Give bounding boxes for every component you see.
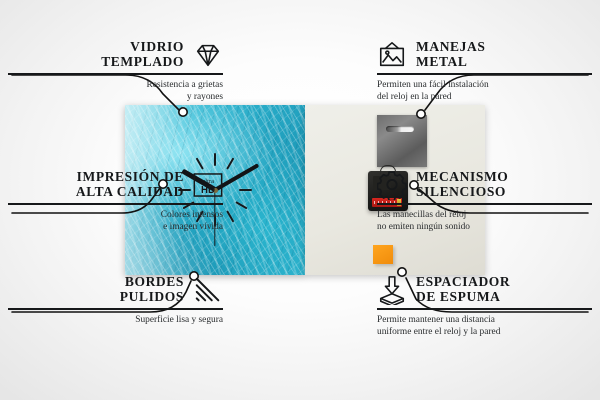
foam-spacer-arrow-icon [377, 275, 407, 305]
feature-divider [377, 308, 592, 310]
feature-manejas-metal: MANEJAS METAL Permiten una fácil instala… [377, 40, 592, 103]
feature-description: Superficie lisa y segura [8, 314, 223, 326]
gear-icon [377, 170, 407, 200]
feature-title: VIDRIO TEMPLADO [101, 40, 184, 69]
feature-impresion-alta-calidad: IMPRESIÓN DE ALTA CALIDAD ultra HD Color… [8, 170, 223, 233]
feature-header: BORDES PULIDOS [8, 275, 223, 305]
feature-mecanismo-silencioso: MECANISMO SILENCIOSO Las manecillas del … [377, 170, 592, 233]
feature-header: ESPACIADOR DE ESPUMA [377, 275, 592, 305]
feature-description: Las manecillas del reloj no emiten ningú… [377, 209, 592, 234]
hanger-slot [386, 126, 414, 132]
polished-edges-icon [193, 275, 223, 305]
diamond-icon [193, 40, 223, 70]
feature-vidrio-templado: VIDRIO TEMPLADO Resistencia a grietas y … [8, 40, 223, 103]
feature-title: MANEJAS METAL [416, 40, 485, 69]
feature-description: Permiten una fácil instalación del reloj… [377, 79, 592, 104]
infographic-stage: VIDRIO TEMPLADO Resistencia a grietas y … [0, 0, 600, 400]
feature-header: IMPRESIÓN DE ALTA CALIDAD ultra HD [8, 170, 223, 200]
picture-frame-hanger-icon [377, 40, 407, 70]
metal-hanger-plate [377, 115, 427, 167]
svg-text:HD: HD [201, 185, 215, 196]
feature-bordes-pulidos: BORDES PULIDOS Superficie lisa y segura [8, 275, 223, 326]
feature-divider [8, 73, 223, 75]
feature-divider [8, 203, 223, 205]
feature-title: ESPACIADOR DE ESPUMA [416, 275, 510, 304]
feature-divider [377, 203, 592, 205]
ultra-hd-icon: ultra HD [193, 170, 223, 200]
feature-description: Permite mantener una distancia uniforme … [377, 314, 592, 339]
feature-espaciador-espuma: ESPACIADOR DE ESPUMA Permite mantener un… [377, 275, 592, 338]
feature-header: VIDRIO TEMPLADO [8, 40, 223, 70]
feature-header: MANEJAS METAL [377, 40, 592, 70]
feature-description: Resistencia a grietas y rayones [8, 79, 223, 104]
feature-description: Colores intensos e imagen vívida [8, 209, 223, 234]
feature-title: BORDES PULIDOS [120, 275, 184, 304]
feature-divider [8, 308, 223, 310]
feature-title: IMPRESIÓN DE ALTA CALIDAD [76, 170, 184, 199]
feature-title: MECANISMO SILENCIOSO [416, 170, 508, 199]
foam-spacer [373, 245, 393, 264]
feature-divider [377, 73, 592, 75]
feature-header: MECANISMO SILENCIOSO [377, 170, 592, 200]
